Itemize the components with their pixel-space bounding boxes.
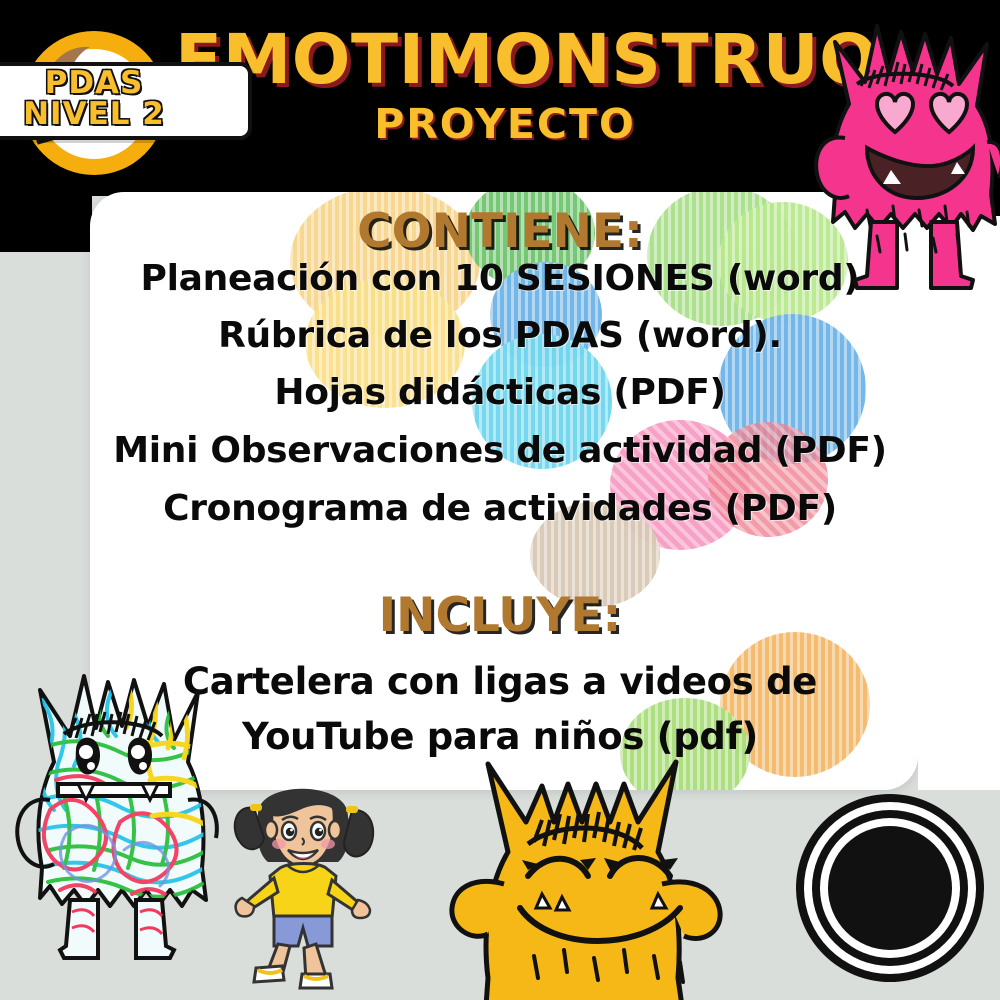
poster-canvas: NEM EMOTIMONSTRUO PROYECTO <box>0 0 1000 1000</box>
pdas-line-1: PDAS <box>45 68 144 99</box>
crayon-scribble-monster <box>2 650 234 980</box>
page-subtitle: PROYECTO <box>175 100 835 148</box>
happy-girl-character <box>228 768 378 993</box>
pdas-banner-text: PDAS NIVEL 2 <box>0 66 244 132</box>
contiene-item-5: Cronograma de actividades (PDF) <box>0 488 1000 529</box>
pink-heart-eyes-monster <box>805 8 1000 303</box>
contiene-item-3: Hojas didácticas (PDF) <box>0 372 1000 413</box>
heading-incluye: INCLUYE: <box>0 588 1000 643</box>
title-block: EMOTIMONSTRUO PROYECTO <box>175 22 835 148</box>
contiene-item-2: Rúbrica de los PDAS (word). <box>0 315 1000 356</box>
contiene-item-4: Mini Observaciones de actividad (PDF) <box>0 430 1000 471</box>
yellow-smiling-monster <box>430 748 740 1000</box>
pdas-line-2: NIVEL 2 <box>23 99 165 130</box>
page-title: EMOTIMONSTRUO <box>175 22 835 98</box>
pdas-nivel-stamp <box>792 790 988 986</box>
